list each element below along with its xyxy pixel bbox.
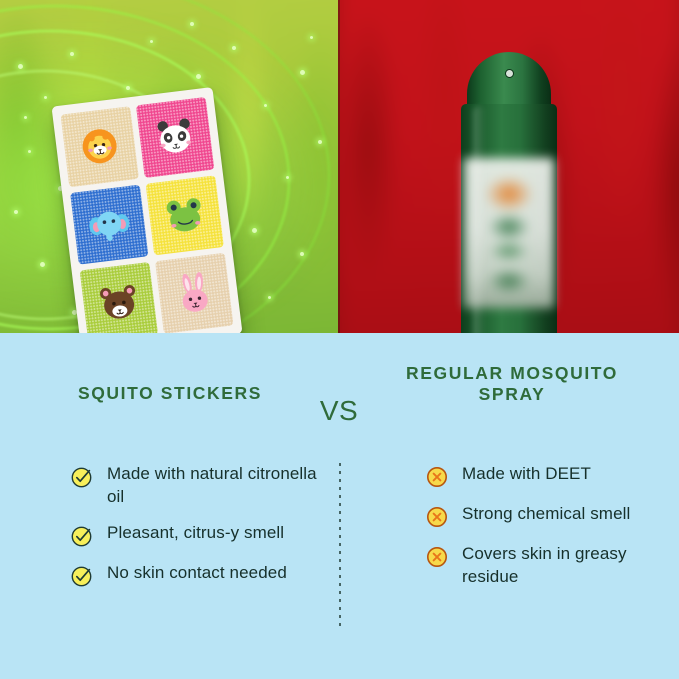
- sticker-frog: [146, 175, 224, 256]
- list-item-label: Made with natural citronella oil: [107, 463, 320, 508]
- x-circle-icon: [425, 545, 449, 569]
- hero-photo-band: [0, 0, 679, 333]
- right-product-heading: REGULAR MOSQUITO SPRAY: [372, 363, 652, 405]
- list-item-label: No skin contact needed: [107, 562, 287, 585]
- sticker-sheet: [51, 87, 242, 333]
- elephant-icon: [84, 200, 135, 249]
- rabbit-icon: [169, 269, 220, 318]
- list-item: No skin contact needed: [70, 562, 320, 588]
- list-item: Pleasant, citrus-y smell: [70, 522, 320, 548]
- check-circle-icon: [70, 524, 94, 548]
- sticker-lion: [61, 106, 139, 187]
- x-circle-icon: [425, 505, 449, 529]
- spray-can: [461, 52, 557, 370]
- x-circle-icon: [425, 465, 449, 489]
- list-item-label: Covers skin in greasy residue: [462, 543, 670, 588]
- hero-left-panel: [0, 0, 338, 333]
- sticker-bear: [80, 262, 158, 333]
- vs-label: VS: [289, 395, 389, 427]
- list-item-label: Strong chemical smell: [462, 503, 630, 526]
- panda-icon: [150, 113, 201, 162]
- sticker-elephant: [70, 184, 148, 265]
- left-benefit-list: Made with natural citronella oil Pleasan…: [70, 463, 320, 602]
- list-item-label: Made with DEET: [462, 463, 591, 486]
- comparison-infographic: SQUITO STICKERS REGULAR MOSQUITO SPRAY V…: [0, 0, 679, 679]
- left-product-heading: SQUITO STICKERS: [30, 383, 310, 404]
- list-item: Covers skin in greasy residue: [425, 543, 670, 588]
- panel-divider: [338, 0, 340, 333]
- list-item: Made with natural citronella oil: [70, 463, 320, 508]
- frog-icon: [159, 191, 210, 240]
- sticker-panda: [136, 97, 214, 178]
- check-circle-icon: [70, 564, 94, 588]
- list-item: Strong chemical smell: [425, 503, 670, 529]
- lion-icon: [74, 122, 125, 171]
- list-item: Made with DEET: [425, 463, 670, 489]
- check-circle-icon: [70, 465, 94, 489]
- can-highlight: [473, 106, 485, 358]
- right-drawback-list: Made with DEET Strong chemical smell Cov…: [425, 463, 670, 602]
- bear-icon: [93, 278, 144, 327]
- comparison-section: SQUITO STICKERS REGULAR MOSQUITO SPRAY V…: [0, 333, 679, 679]
- can-nozzle-icon: [505, 69, 514, 78]
- sticker-rabbit: [155, 253, 233, 333]
- column-dotted-divider: [339, 463, 341, 628]
- list-item-label: Pleasant, citrus-y smell: [107, 522, 284, 545]
